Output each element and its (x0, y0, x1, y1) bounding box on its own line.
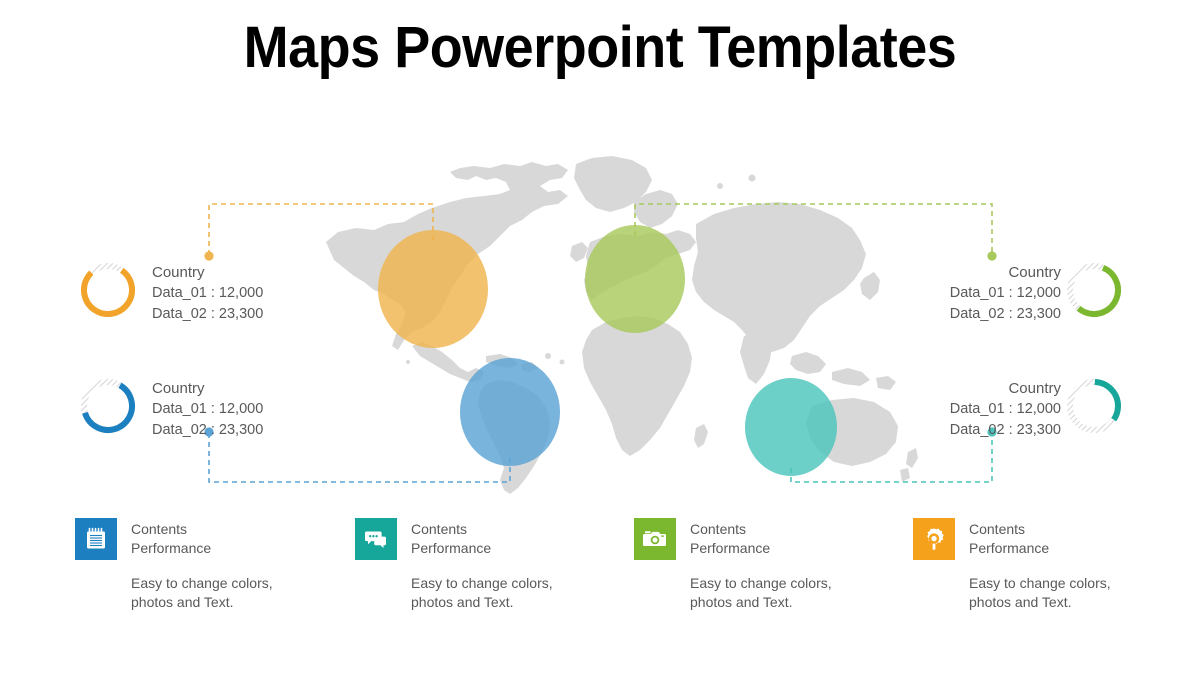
donut-ring-teal (1063, 375, 1125, 437)
slide-root: Maps Powerpoint Templates (0, 0, 1200, 675)
feature-description: Easy to change colors, photos and Text. (690, 574, 914, 612)
feature-contents-performance-3[interactable]: Contents Performance Easy to change colo… (634, 518, 914, 612)
feature-title: Contents Performance (969, 518, 1049, 558)
feature-description: Easy to change colors, photos and Text. (131, 574, 355, 612)
feature-title-line-1: Contents (690, 520, 770, 539)
feature-title-line-1: Contents (411, 520, 491, 539)
gear-icon[interactable] (913, 518, 955, 560)
feature-title-line-1: Contents (969, 520, 1049, 539)
feature-desc-line-2: photos and Text. (131, 593, 355, 612)
data-01-value: Data_01 : 12,000 (950, 283, 1061, 304)
feature-row: Contents Performance Easy to change colo… (0, 518, 1200, 638)
feature-title-line-2: Performance (690, 539, 770, 558)
connector-green (635, 204, 992, 252)
feature-title-line-2: Performance (131, 539, 211, 558)
country-label: Country (950, 262, 1061, 283)
country-label: Country (152, 262, 263, 283)
connector-teal (791, 436, 992, 482)
feature-title-line-2: Performance (411, 539, 491, 558)
feature-desc-line-2: photos and Text. (969, 593, 1193, 612)
data-block-blue: Country Data_01 : 12,000 Data_02 : 23,30… (152, 378, 263, 441)
data-02-value: Data_02 : 23,300 (950, 304, 1061, 325)
data-block-green: Country Data_01 : 12,000 Data_02 : 23,30… (950, 262, 1061, 325)
country-label: Country (152, 378, 263, 399)
feature-title-line-1: Contents (131, 520, 211, 539)
connector-green-dot (987, 251, 996, 260)
feature-desc-line-1: Easy to change colors, (411, 574, 635, 593)
data-block-orange: Country Data_01 : 12,000 Data_02 : 23,30… (152, 262, 263, 325)
feature-desc-line-2: photos and Text. (411, 593, 635, 612)
feature-desc-line-2: photos and Text. (690, 593, 914, 612)
data-02-value: Data_02 : 23,300 (152, 304, 263, 325)
connector-orange (209, 204, 433, 252)
data-01-value: Data_01 : 12,000 (152, 283, 263, 304)
feature-contents-performance-4[interactable]: Contents Performance Easy to change colo… (913, 518, 1193, 612)
data-02-value: Data_02 : 23,300 (152, 420, 263, 441)
donut-ring-blue (77, 375, 139, 437)
data-01-value: Data_01 : 12,000 (152, 399, 263, 420)
connector-orange-dot (204, 251, 213, 260)
camera-icon[interactable] (634, 518, 676, 560)
feature-desc-line-1: Easy to change colors, (690, 574, 914, 593)
feature-title: Contents Performance (411, 518, 491, 558)
feature-contents-performance-2[interactable]: Contents Performance Easy to change colo… (355, 518, 635, 612)
donut-ring-orange (77, 259, 139, 321)
chat-bubbles-icon[interactable] (355, 518, 397, 560)
feature-desc-line-1: Easy to change colors, (969, 574, 1193, 593)
country-label: Country (950, 378, 1061, 399)
donut-ring-green (1063, 259, 1125, 321)
connector-blue (209, 436, 510, 482)
notepad-icon[interactable] (75, 518, 117, 560)
feature-description: Easy to change colors, photos and Text. (969, 574, 1193, 612)
feature-desc-line-1: Easy to change colors, (131, 574, 355, 593)
feature-contents-performance-1[interactable]: Contents Performance Easy to change colo… (75, 518, 355, 612)
feature-title-line-2: Performance (969, 539, 1049, 558)
data-02-value: Data_02 : 23,300 (950, 420, 1061, 441)
feature-title: Contents Performance (131, 518, 211, 558)
data-block-teal: Country Data_01 : 12,000 Data_02 : 23,30… (950, 378, 1061, 441)
data-01-value: Data_01 : 12,000 (950, 399, 1061, 420)
feature-title: Contents Performance (690, 518, 770, 558)
feature-description: Easy to change colors, photos and Text. (411, 574, 635, 612)
